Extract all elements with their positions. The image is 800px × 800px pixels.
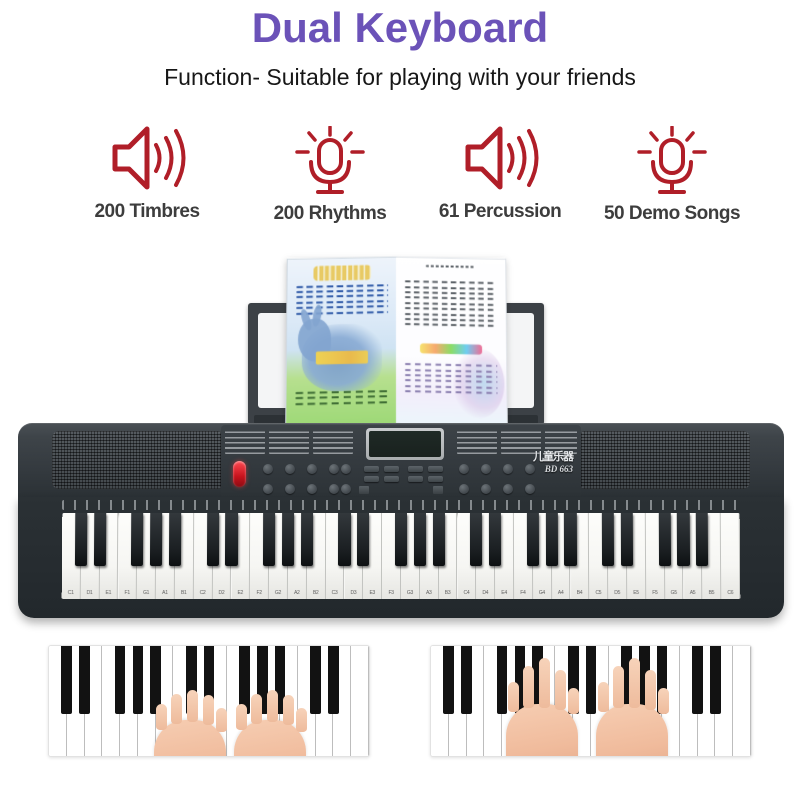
hand [234,720,306,757]
white-key[interactable] [733,646,751,756]
key-label: D3 [344,590,362,596]
finger [296,708,307,732]
key-label: B3 [439,590,457,596]
finger [216,708,227,732]
feature-item-rhythms: 200 Rhythms [245,126,415,225]
black-key[interactable] [527,513,539,566]
panel-button[interactable] [428,466,443,472]
finger [508,682,519,712]
black-key[interactable] [696,513,708,566]
key-label: A5 [684,590,702,596]
key-label: G4 [533,590,551,596]
feature-label: 50 Demo Songs [582,203,762,225]
black-key[interactable] [470,513,482,566]
key-label: E5 [627,590,645,596]
keyboard-top-panel: 儿童乐器 BD 663 [18,423,784,501]
black-key[interactable] [75,513,87,566]
black-key[interactable] [443,646,454,714]
songbook-notation-left [295,390,388,408]
key-label: C2 [194,590,212,596]
black-key[interactable] [94,513,106,566]
black-key[interactable] [150,513,162,566]
dual-keyboard-demo [0,645,800,800]
black-key[interactable] [225,513,237,566]
key-label: B4 [571,590,589,596]
key-label: C1 [62,590,80,596]
black-key[interactable] [414,513,426,566]
black-key[interactable] [461,646,472,714]
key-label: E3 [363,590,381,596]
key-label: G5 [665,590,683,596]
brand-mark: 儿童乐器 BD 663 [533,451,573,475]
finger [156,704,167,730]
black-key[interactable] [282,513,294,566]
black-key[interactable] [433,513,445,566]
black-key[interactable] [497,646,508,714]
key-label: A1 [156,590,174,596]
panel-button[interactable] [459,484,469,494]
panel-button[interactable] [408,466,423,472]
panel-button[interactable] [503,484,513,494]
keyboard-body: 儿童乐器 BD 663 C1D1E1F1G1A1B1C2D2E2F2G2A2B2… [18,423,784,618]
feature-item-demo-songs: 50 Demo Songs [582,126,762,225]
key-label: F4 [514,590,532,596]
feature-label: 200 Timbres [62,201,232,223]
key-name-silkscreen [62,500,740,510]
black-key[interactable] [131,513,143,566]
black-key[interactable] [357,513,369,566]
panel-button[interactable] [433,486,443,494]
panel-button[interactable] [459,464,469,474]
key-label: B1 [175,590,193,596]
key-label: A2 [288,590,306,596]
black-key[interactable] [133,646,144,714]
voice-list-text [269,428,309,454]
finger [598,682,609,712]
power-button[interactable] [233,461,246,487]
key-label: B2 [307,590,325,596]
hand [154,720,226,757]
black-key[interactable] [602,513,614,566]
speaker-icon [412,120,588,201]
finger [658,688,669,714]
panel-button[interactable] [307,464,317,474]
model-number: BD 663 [533,463,573,475]
hand [506,704,578,757]
black-key[interactable] [658,513,670,566]
white-key[interactable] [351,646,369,756]
panel-button[interactable] [364,476,379,482]
finger [171,694,182,724]
finger [645,670,656,710]
panel-button[interactable] [307,484,317,494]
black-key[interactable] [621,513,633,566]
panel-button[interactable] [481,484,491,494]
black-key[interactable] [263,513,275,566]
panel-button[interactable] [503,464,513,474]
panel-button[interactable] [384,466,399,472]
panel-button[interactable] [359,486,369,494]
black-key[interactable] [301,513,313,566]
key-label: E2 [231,590,249,596]
key-label: F1 [118,590,136,596]
panel-button[interactable] [364,466,379,472]
keybed: C1D1E1F1G1A1B1C2D2E2F2G2A2B2C3D3E3F3G3A3… [18,497,784,618]
black-key[interactable] [207,513,219,566]
feature-row: 200 Timbres 200 Rhythms [0,112,800,242]
finger [267,690,278,722]
songbook-colour-banner [420,344,482,355]
finger [539,658,550,708]
panel-button[interactable] [329,464,339,474]
finger [283,695,294,725]
black-key[interactable] [489,513,501,566]
finger [187,690,198,722]
lcd-display [366,428,444,460]
songbook-song-title-banner [315,350,368,364]
key-label: D2 [213,590,231,596]
page-title: Dual Keyboard [0,4,800,52]
songbook-notation-right [405,281,497,331]
panel-button[interactable] [285,464,295,474]
black-key[interactable] [710,646,721,714]
key-label: D4 [476,590,494,596]
panel-button[interactable] [263,464,273,474]
feature-item-percussion: 61 Percussion [412,120,588,223]
white-key[interactable]: C6 [721,513,740,599]
finger [251,694,262,724]
black-key[interactable] [692,646,703,714]
key-label: D5 [608,590,626,596]
page-subtitle: Function- Suitable for playing with your… [0,64,800,91]
songbook-page-left [285,257,397,427]
songbook [285,258,507,424]
key-label: E1 [99,590,117,596]
finger [523,666,534,708]
key-label: F3 [382,590,400,596]
key-label: A3 [420,590,438,596]
black-key[interactable] [564,513,576,566]
key-label: G2 [269,590,287,596]
main-keyboard-photo: 儿童乐器 BD 663 C1D1E1F1G1A1B1C2D2E2F2G2A2B2… [0,255,800,625]
finger [236,704,247,730]
speaker-grille-right [578,431,750,489]
black-key[interactable] [677,513,689,566]
songbook-lyrics-right [405,363,498,398]
black-key[interactable] [310,646,321,714]
rhythm-list-text [313,428,353,454]
key-label: G1 [137,590,155,596]
key-label: G3 [401,590,419,596]
panel-button[interactable] [341,464,351,474]
voice-list-text [225,428,265,454]
key-label: C6 [721,590,739,596]
panel-button[interactable] [428,476,443,482]
function-list-text [457,428,497,454]
black-key[interactable] [61,646,72,714]
panel-button[interactable] [525,484,535,494]
key-label: F5 [646,590,664,596]
black-key[interactable] [328,646,339,714]
black-key[interactable] [169,513,181,566]
piano-keys[interactable]: C1D1E1F1G1A1B1C2D2E2F2G2A2B2C3D3E3F3G3A3… [62,513,741,599]
keyboard-half-left[interactable] [48,645,370,757]
speaker-grille-left [52,431,224,489]
panel-button[interactable] [263,484,273,494]
brand-logo: 儿童乐器 [533,451,573,463]
feature-item-timbres: 200 Timbres [62,120,232,223]
feature-label: 61 Percussion [412,201,588,223]
panel-button[interactable] [285,484,295,494]
black-key[interactable] [115,646,126,714]
control-panel: 儿童乐器 BD 663 [221,425,581,499]
finger [568,688,579,714]
music-stand [248,255,544,435]
feature-label: 200 Rhythms [245,203,415,225]
speaker-icon [62,120,232,201]
finger [629,658,640,708]
panel-button[interactable] [341,484,351,494]
black-key[interactable] [395,513,407,566]
finger [613,666,624,708]
black-key[interactable] [586,646,597,714]
key-label: E4 [495,590,513,596]
microphone-icon [245,126,415,203]
key-label: B5 [703,590,721,596]
songbook-lyrics-left [296,284,388,318]
songbook-title-art [314,265,371,281]
product-feature-image: Dual Keyboard Function- Suitable for pla… [0,0,800,800]
panel-button[interactable] [329,484,339,494]
black-key[interactable] [79,646,90,714]
key-label: C4 [458,590,476,596]
hand [596,704,668,757]
black-key[interactable] [546,513,558,566]
key-label: D1 [81,590,99,596]
key-label: F2 [250,590,268,596]
songbook-heading-right [405,264,497,273]
finger [203,695,214,725]
keyboard-half-right[interactable] [430,645,752,757]
microphone-icon [582,126,762,203]
panel-button[interactable] [481,464,491,474]
panel-button[interactable] [408,476,423,482]
finger [555,670,566,710]
songbook-page-right [396,257,508,427]
black-key[interactable] [338,513,350,566]
panel-button[interactable] [384,476,399,482]
key-label: A4 [552,590,570,596]
key-label: C5 [589,590,607,596]
key-label: C3 [326,590,344,596]
